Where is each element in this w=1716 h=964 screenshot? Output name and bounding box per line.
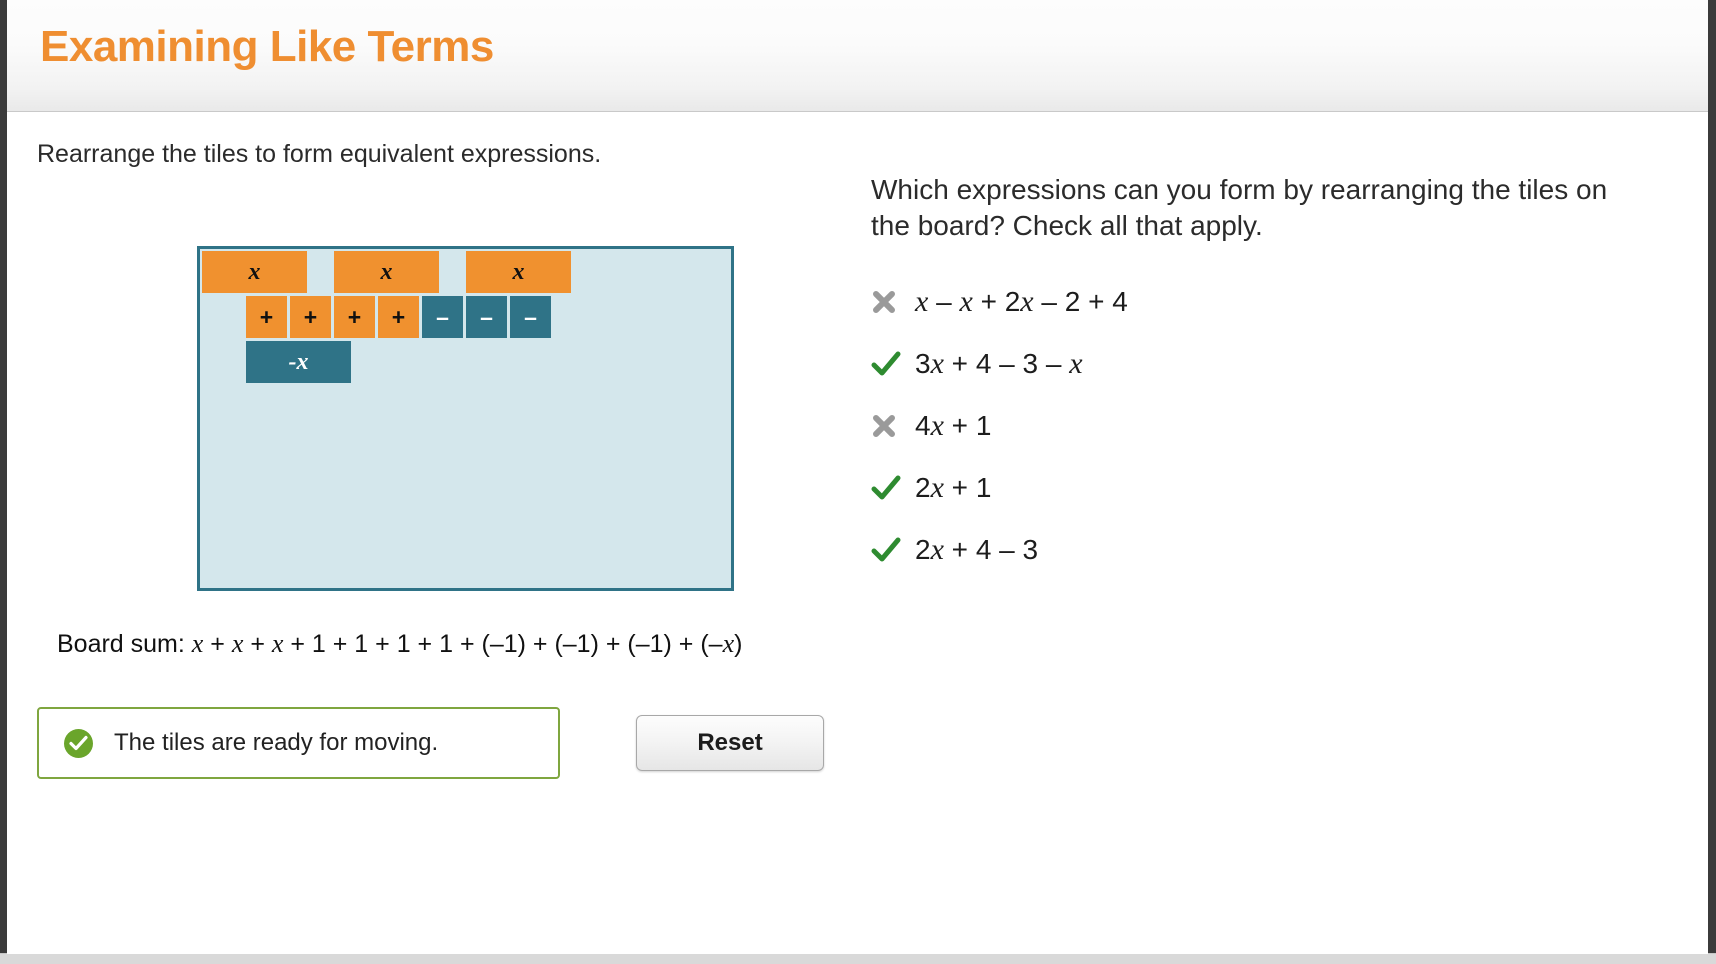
answer-expression: x – x + 2x – 2 + 4 <box>915 285 1128 319</box>
page-root: Examining Like Terms Rearrange the tiles… <box>7 0 1708 954</box>
tile-plus[interactable]: + <box>334 296 375 338</box>
answer-expression: 3x + 4 – 3 – x <box>915 347 1083 381</box>
tile-minus[interactable]: – <box>510 296 551 338</box>
tile-plus[interactable]: + <box>378 296 419 338</box>
answer-expression: 2x + 1 <box>915 471 991 505</box>
window-edge-left <box>0 0 7 964</box>
tile-board[interactable]: xxx++++–––-x <box>197 246 734 591</box>
board-sum-expression: x + x + x + 1 + 1 + 1 + 1 + (–1) + (–1) … <box>192 630 743 658</box>
question-panel: Which expressions can you form by rearra… <box>871 172 1631 581</box>
tile-x[interactable]: x <box>334 251 439 293</box>
answer-row[interactable]: 2x + 4 – 3 <box>871 519 1631 581</box>
answer-row[interactable]: 4x + 1 <box>871 395 1631 457</box>
check-mark-icon <box>871 475 915 501</box>
board-sum: Board sum: x + x + x + 1 + 1 + 1 + 1 + (… <box>57 629 742 659</box>
status-message-box: The tiles are ready for moving. <box>37 707 560 779</box>
instruction-text: Rearrange the tiles to form equivalent e… <box>37 140 601 169</box>
answer-row[interactable]: 2x + 1 <box>871 457 1631 519</box>
x-mark-icon <box>871 413 915 439</box>
tile-x[interactable]: x <box>466 251 571 293</box>
check-mark-icon <box>871 537 915 563</box>
answer-expression: 4x + 1 <box>915 409 991 443</box>
answer-row[interactable]: x – x + 2x – 2 + 4 <box>871 271 1631 333</box>
tile-plus[interactable]: + <box>290 296 331 338</box>
tile-x[interactable]: x <box>202 251 307 293</box>
answer-expression: 2x + 4 – 3 <box>915 533 1038 567</box>
answer-row[interactable]: 3x + 4 – 3 – x <box>871 333 1631 395</box>
tile-negx[interactable]: -x <box>246 341 351 383</box>
board-sum-label: Board sum: <box>57 630 192 658</box>
status-message-text: The tiles are ready for moving. <box>114 729 438 757</box>
reset-button[interactable]: Reset <box>636 715 824 771</box>
check-circle-icon <box>64 729 93 758</box>
tile-minus[interactable]: – <box>466 296 507 338</box>
main-content: Rearrange the tiles to form equivalent e… <box>7 112 1708 954</box>
window-edge-bottom <box>0 953 1716 964</box>
tile-plus[interactable]: + <box>246 296 287 338</box>
x-mark-icon <box>871 289 915 315</box>
check-mark-icon <box>871 351 915 377</box>
question-prompt: Which expressions can you form by rearra… <box>871 172 1611 244</box>
answer-list: x – x + 2x – 2 + 43x + 4 – 3 – x4x + 12x… <box>871 271 1631 581</box>
page-title: Examining Like Terms <box>40 22 494 72</box>
window-edge-right <box>1708 0 1716 964</box>
page-header: Examining Like Terms <box>7 0 1708 112</box>
tile-minus[interactable]: – <box>422 296 463 338</box>
